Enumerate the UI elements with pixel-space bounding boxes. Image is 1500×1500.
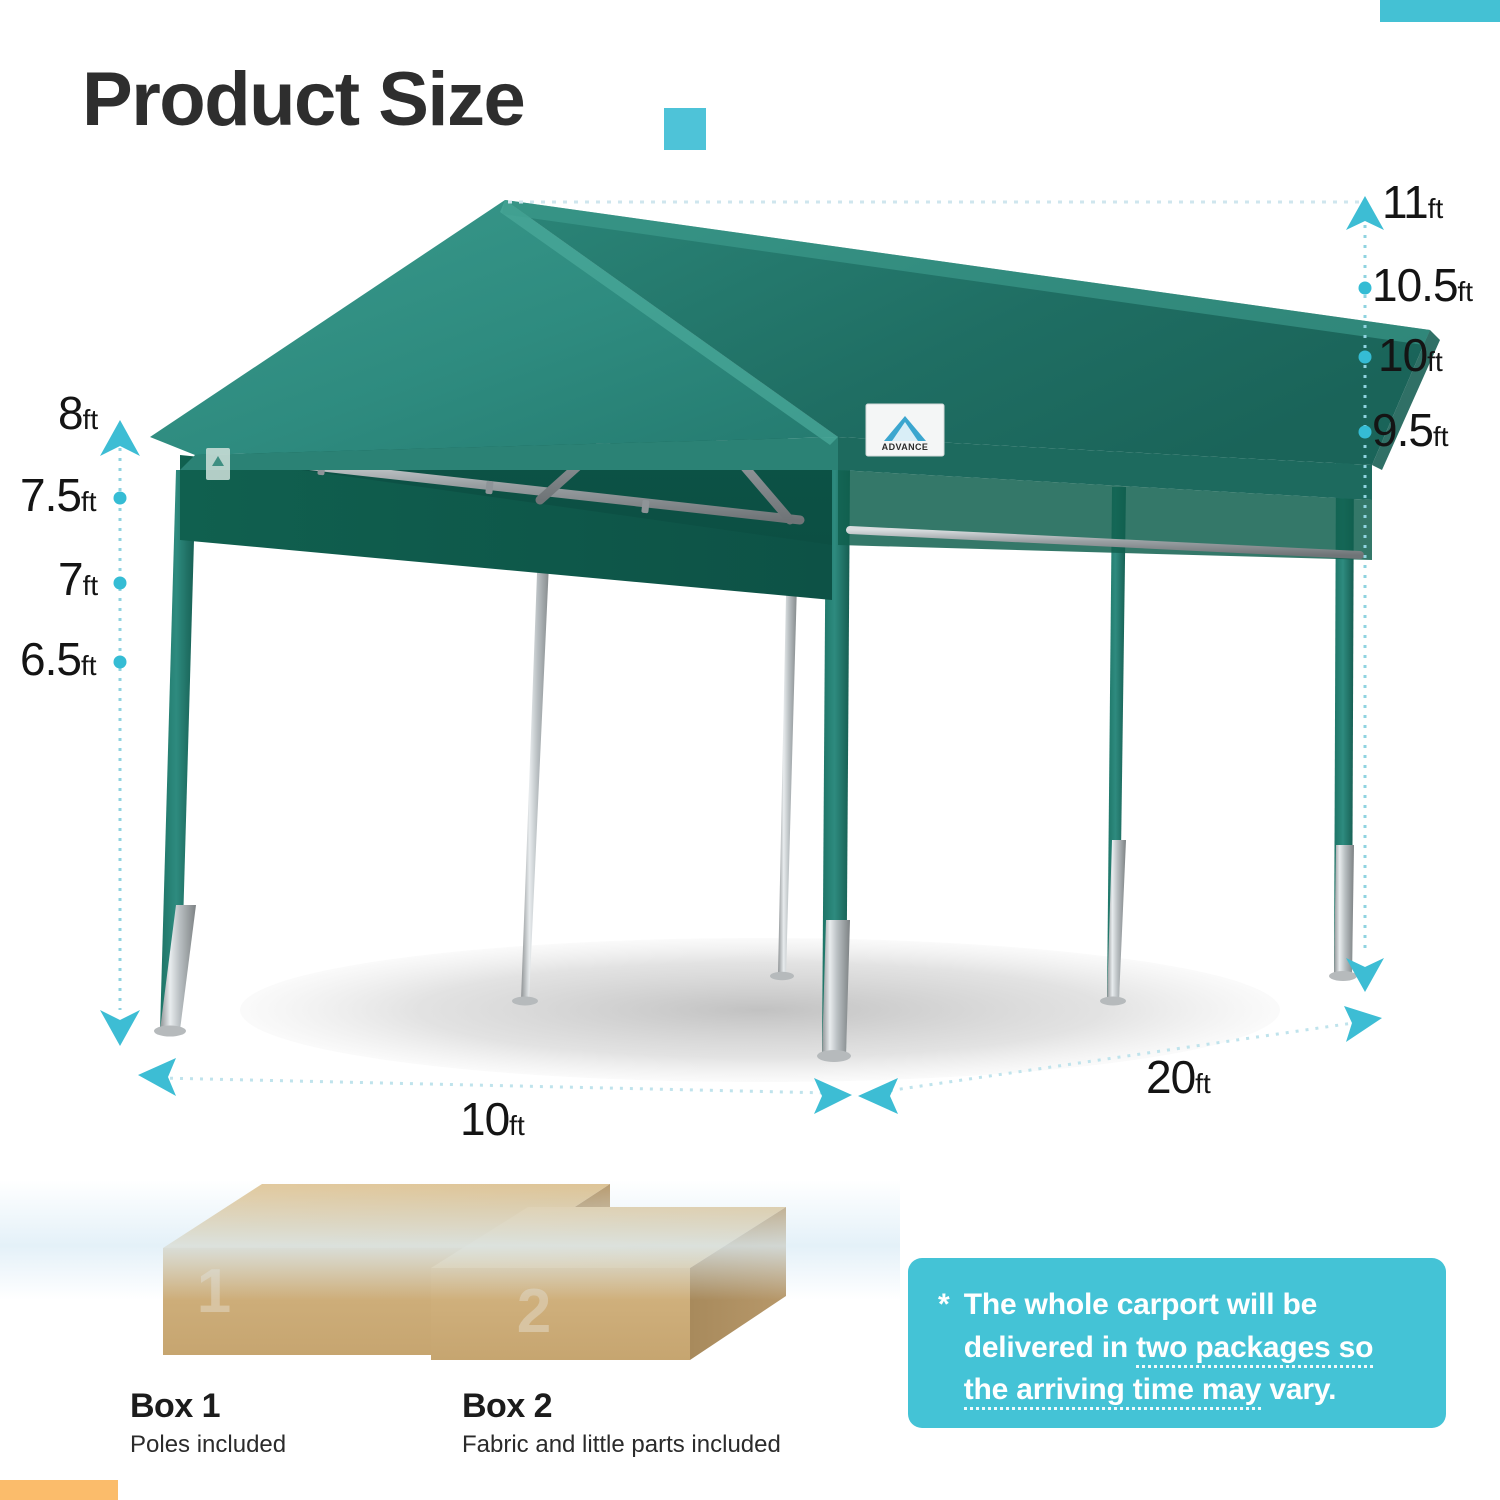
arrow-length-right: [1344, 1006, 1382, 1042]
eave-7ft-value: 7: [58, 553, 83, 605]
eave-8ft-unit: ft: [83, 404, 99, 435]
delivery-note-panel: * The whole carport will be delivered in…: [908, 1258, 1446, 1428]
dim-label-length-20ft: 20ft: [1146, 1050, 1211, 1104]
tick-7_5ft: [114, 492, 127, 505]
arrow-eave-bottom: [100, 1010, 140, 1046]
note-line-2-underlined: two packages so: [1136, 1331, 1373, 1368]
note-line-2-plain: delivered in: [964, 1331, 1136, 1364]
note-asterisk-icon: *: [938, 1284, 950, 1408]
eave-7_5ft-unit: ft: [81, 486, 97, 517]
dim-label-peak-10ft: 10ft: [1378, 328, 1443, 382]
eave-6_5ft-value: 6.5: [20, 633, 81, 685]
brand-label-patch: ADVANCE: [866, 404, 944, 456]
ground-shadow: [240, 938, 1280, 1082]
dim-label-eave-6_5ft: 6.5ft: [20, 632, 97, 686]
peak-10_5ft-unit: ft: [1458, 276, 1474, 307]
peak-9_5ft-value: 9.5: [1372, 404, 1433, 456]
width-value: 10: [460, 1093, 509, 1145]
length-unit: ft: [1195, 1068, 1211, 1099]
length-value: 20: [1146, 1051, 1195, 1103]
eave-6_5ft-unit: ft: [81, 650, 97, 681]
corner-tag-left: [206, 448, 230, 480]
boxes-background-band: [0, 1180, 900, 1300]
note-line-1: The whole carport will be: [964, 1288, 1317, 1321]
arrow-peak-top: [1346, 196, 1384, 230]
arrow-width-right: [814, 1078, 852, 1114]
box-1-subtitle: Poles included: [130, 1431, 286, 1460]
tick-7ft: [114, 577, 127, 590]
peak-10ft-unit: ft: [1427, 346, 1443, 377]
dim-label-peak-11ft: 11ft: [1382, 175, 1443, 229]
peak-10ft-value: 10: [1378, 329, 1427, 381]
dim-label-peak-10_5ft: 10.5ft: [1372, 258, 1473, 312]
box-1-title: Box 1: [130, 1388, 286, 1425]
eave-8ft-value: 8: [58, 387, 83, 439]
eave-7_5ft-value: 7.5: [20, 469, 81, 521]
leg-rear-center: [778, 548, 798, 975]
dim-label-width-10ft: 10ft: [460, 1092, 525, 1146]
page-title: Product Size: [82, 62, 524, 138]
dim-label-eave-8ft: 8ft: [58, 386, 98, 440]
leg-rear-left: [521, 520, 551, 1000]
tick-10_5ft: [1359, 282, 1372, 295]
tick-6_5ft: [114, 656, 127, 669]
dim-label-eave-7_5ft: 7.5ft: [20, 468, 97, 522]
width-unit: ft: [509, 1110, 525, 1141]
product-size-infographic: Product Size: [0, 0, 1500, 1500]
note-text: The whole carport will be delivered in t…: [964, 1284, 1374, 1408]
peak-11ft-value: 11: [1382, 176, 1428, 228]
box-2-caption: Box 2 Fabric and little parts included: [462, 1388, 781, 1460]
tick-9_5ft: [1359, 426, 1372, 439]
box-2-subtitle: Fabric and little parts included: [462, 1431, 781, 1460]
arrow-length-left: [858, 1078, 898, 1114]
peak-9_5ft-unit: ft: [1433, 421, 1449, 452]
peak-10_5ft-value: 10.5: [1372, 259, 1458, 311]
note-line-3-underlined: the arriving time may: [964, 1373, 1262, 1410]
eave-7ft-unit: ft: [83, 570, 99, 601]
box-1-caption: Box 1 Poles included: [130, 1388, 286, 1460]
note-line-3-plain: vary.: [1261, 1373, 1336, 1406]
tick-10ft: [1359, 351, 1372, 364]
peak-11ft-unit: ft: [1428, 193, 1444, 224]
dim-label-peak-9_5ft: 9.5ft: [1372, 403, 1449, 457]
dim-label-eave-7ft: 7ft: [58, 552, 98, 606]
svg-text:ADVANCE: ADVANCE: [882, 442, 929, 452]
box-2-title: Box 2: [462, 1388, 781, 1425]
title-accent-square: [664, 108, 706, 150]
